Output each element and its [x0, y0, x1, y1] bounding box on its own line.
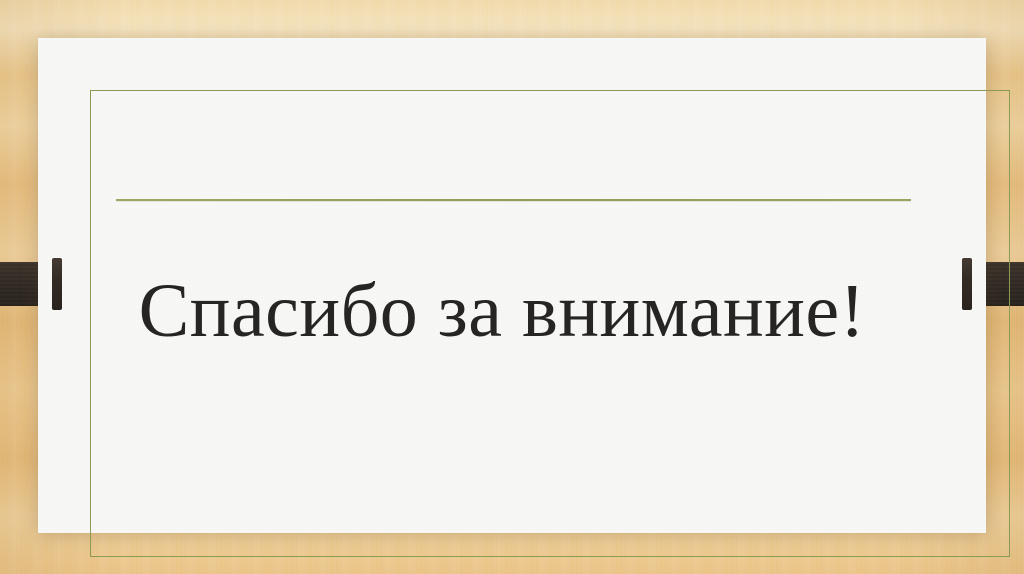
- title-divider-rule: [116, 199, 911, 201]
- presentation-slide: Спасибо за внимание!: [0, 0, 1024, 574]
- slide-title: Спасибо за внимание!: [62, 272, 942, 352]
- right-ribbon-cap: [962, 258, 972, 310]
- left-ribbon-cap: [52, 258, 62, 310]
